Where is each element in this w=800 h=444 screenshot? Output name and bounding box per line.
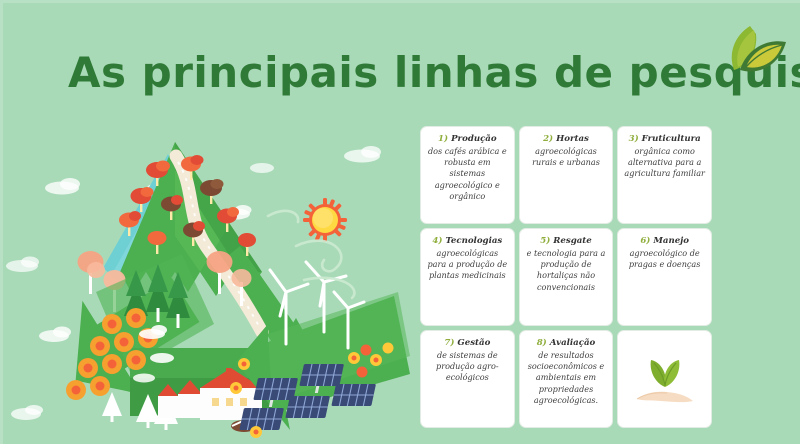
infographic-poster: As principais linhas de pesquisa 1) Prod… bbox=[0, 0, 800, 444]
card-number: 1) bbox=[438, 134, 448, 144]
leaves-in-hand-icon bbox=[629, 349, 701, 409]
agroecology-illustration bbox=[0, 96, 412, 444]
card-heading: 4) Tecnologias bbox=[427, 235, 508, 247]
card-number: 3) bbox=[629, 134, 639, 144]
card-logo[interactable] bbox=[617, 330, 712, 428]
title-area: As principais linhas de pesquisa bbox=[68, 44, 768, 104]
card-fruticultura[interactable]: 3) Fruticultura orgânica como alternativ… bbox=[617, 126, 712, 224]
card-body: dos cafés arábica e robusta em sistemas … bbox=[427, 146, 508, 203]
card-gestao[interactable]: 7) Gestão de sistemas de produção agro-e… bbox=[420, 330, 515, 428]
card-number: 4) bbox=[432, 236, 442, 246]
card-body: agroecológicas para a produção de planta… bbox=[427, 248, 508, 282]
card-hortas[interactable]: 2) Hortas agroecológicas rurais e urbana… bbox=[519, 126, 614, 224]
card-title: Avaliação bbox=[550, 338, 596, 348]
card-heading: 2) Hortas bbox=[526, 133, 607, 145]
card-title: Hortas bbox=[556, 134, 589, 144]
card-tecnologias[interactable]: 4) Tecnologias agroecológicas para a pro… bbox=[420, 228, 515, 326]
card-number: 7) bbox=[444, 338, 454, 348]
card-body: de sistemas de produção agro-ecológicos bbox=[427, 350, 508, 384]
card-text: 6) Manejo agroecológico de pragas e doen… bbox=[622, 235, 707, 270]
card-producao[interactable]: 1) Produção dos cafés arábica e robusta … bbox=[420, 126, 515, 224]
card-title: Resgate bbox=[553, 236, 591, 246]
card-number: 5) bbox=[540, 236, 550, 246]
card-body: e tecnologia para a produção de hortaliç… bbox=[526, 248, 607, 294]
card-manejo[interactable]: 6) Manejo agroecológico de pragas e doen… bbox=[617, 228, 712, 326]
card-heading: 6) Manejo bbox=[624, 235, 705, 247]
page-title: As principais linhas de pesquisa bbox=[68, 44, 768, 102]
card-title: Manejo bbox=[653, 236, 689, 246]
card-text: 5) Resgate e tecnologia para a produção … bbox=[524, 235, 609, 293]
card-title: Produção bbox=[451, 134, 497, 144]
sun-icon bbox=[303, 198, 347, 242]
card-heading: 5) Resgate bbox=[526, 235, 607, 247]
card-text: 3) Fruticultura orgânica como alternativ… bbox=[622, 133, 707, 180]
card-heading: 7) Gestão bbox=[427, 337, 508, 349]
card-body: agroecológicas rurais e urbanas bbox=[526, 146, 607, 169]
card-body: agroecológico de pragas e doenças bbox=[624, 248, 705, 271]
card-title: Tecnologias bbox=[445, 236, 502, 246]
card-number: 8) bbox=[537, 338, 547, 348]
card-number: 6) bbox=[640, 236, 650, 246]
research-lines-grid: 1) Produção dos cafés arábica e robusta … bbox=[420, 126, 712, 428]
card-heading: 8) Avaliação bbox=[526, 337, 607, 349]
card-text: 1) Produção dos cafés arábica e robusta … bbox=[425, 133, 510, 203]
card-avaliacao[interactable]: 8) Avaliação de resultados socioeconômic… bbox=[519, 330, 614, 428]
card-body: de resultados socioeconômicos e ambienta… bbox=[526, 350, 607, 407]
card-text: 8) Avaliação de resultados socioeconômic… bbox=[524, 337, 609, 407]
card-body: orgânica como alternativa para a agricul… bbox=[624, 146, 705, 180]
card-text: 2) Hortas agroecológicas rurais e urbana… bbox=[524, 133, 609, 168]
card-resgate[interactable]: 5) Resgate e tecnologia para a produção … bbox=[519, 228, 614, 326]
card-number: 2) bbox=[543, 134, 553, 144]
card-title: Gestão bbox=[457, 338, 490, 348]
card-heading: 3) Fruticultura bbox=[624, 133, 705, 145]
card-heading: 1) Produção bbox=[427, 133, 508, 145]
card-title: Fruticultura bbox=[642, 134, 701, 144]
card-text: 7) Gestão de sistemas de produção agro-e… bbox=[425, 337, 510, 384]
two-leaves-icon bbox=[704, 20, 794, 84]
card-text: 4) Tecnologias agroecológicas para a pro… bbox=[425, 235, 510, 282]
